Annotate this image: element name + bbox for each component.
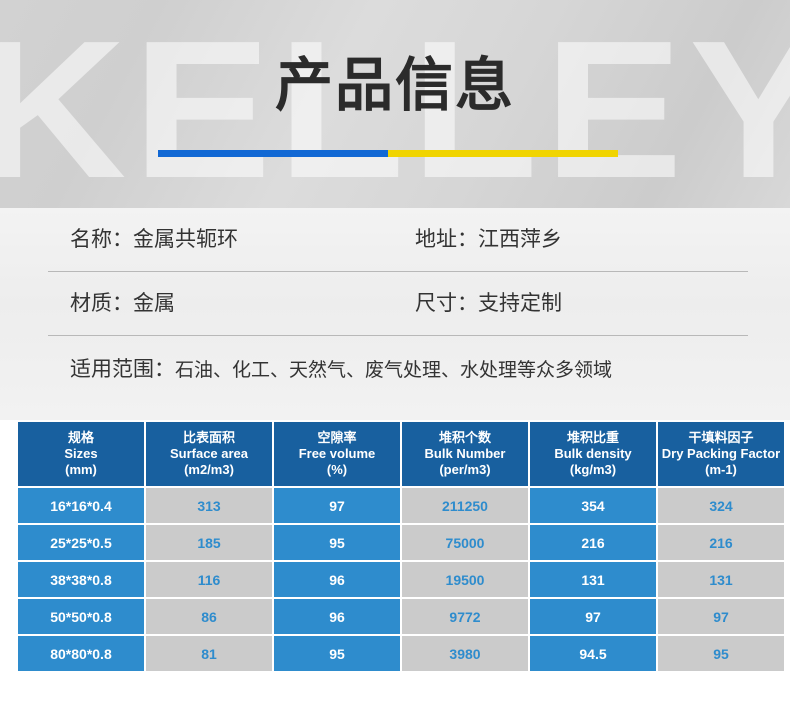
table-cell: 116 — [146, 562, 272, 597]
page-banner: KELLEY 产品信息 — [0, 0, 790, 208]
info-scope-label: 适用范围： — [70, 353, 175, 383]
spec-table-wrapper: 规格 Sizes (mm) 比表面积 Surface area (m2/m3) … — [0, 420, 790, 695]
table-header-cell: 干填料因子 Dry Packing Factor (m-1) — [658, 422, 784, 486]
header-cn-label: 空隙率 — [276, 430, 398, 446]
header-unit-label: (mm) — [20, 462, 142, 478]
table-cell: 50*50*0.8 — [18, 599, 144, 634]
header-cn-label: 比表面积 — [148, 430, 270, 446]
table-cell: 131 — [530, 562, 656, 597]
table-cell: 96 — [274, 562, 400, 597]
table-cell: 185 — [146, 525, 272, 560]
table-cell: 95 — [274, 525, 400, 560]
header-unit-label: (%) — [276, 462, 398, 478]
table-cell: 313 — [146, 488, 272, 523]
table-row: 38*38*0.8 116 96 19500 131 131 — [18, 562, 784, 597]
table-row: 25*25*0.5 185 95 75000 216 216 — [18, 525, 784, 560]
header-unit-label: (m2/m3) — [148, 462, 270, 478]
header-en-label: Sizes — [20, 446, 142, 462]
page-title: 产品信息 — [0, 50, 790, 122]
table-row: 16*16*0.4 313 97 211250 354 324 — [18, 488, 784, 523]
table-cell: 16*16*0.4 — [18, 488, 144, 523]
info-row-scope: 适用范围： 石油、化工、天然气、废气处理、水处理等众多领域 — [0, 336, 790, 400]
table-cell: 25*25*0.5 — [18, 525, 144, 560]
table-header-cell: 空隙率 Free volume (%) — [274, 422, 400, 486]
table-row: 80*80*0.8 81 95 3980 94.5 95 — [18, 636, 784, 671]
spec-table: 规格 Sizes (mm) 比表面积 Surface area (m2/m3) … — [16, 420, 786, 673]
info-material: 材质：金属 — [70, 290, 415, 318]
header-en-label: Bulk density — [532, 446, 654, 462]
table-cell: 94.5 — [530, 636, 656, 671]
table-header-cell: 堆积比重 Bulk density (kg/m3) — [530, 422, 656, 486]
header-unit-label: (kg/m3) — [532, 462, 654, 478]
title-accent-bar — [158, 150, 618, 157]
header-en-label: Surface area — [148, 446, 270, 462]
info-address: 地址：江西萍乡 — [415, 226, 562, 254]
table-header-cell: 规格 Sizes (mm) — [18, 422, 144, 486]
table-cell: 216 — [530, 525, 656, 560]
table-cell: 80*80*0.8 — [18, 636, 144, 671]
table-cell: 95 — [658, 636, 784, 671]
table-cell: 95 — [274, 636, 400, 671]
header-unit-label: (m-1) — [660, 462, 782, 478]
table-cell: 9772 — [402, 599, 528, 634]
accent-bar-blue-segment — [158, 150, 388, 157]
table-cell: 97 — [530, 599, 656, 634]
table-cell: 38*38*0.8 — [18, 562, 144, 597]
table-header-cell: 堆积个数 Bulk Number (per/m3) — [402, 422, 528, 486]
header-cn-label: 堆积比重 — [532, 430, 654, 446]
info-row-material-size: 材质：金属 尺寸：支持定制 — [0, 272, 790, 336]
header-en-label: Free volume — [276, 446, 398, 462]
product-info-panel: 名称：金属共轭环 地址：江西萍乡 材质：金属 尺寸：支持定制 适用范围： 石油、… — [0, 208, 790, 420]
info-row-name-address: 名称：金属共轭环 地址：江西萍乡 — [0, 208, 790, 272]
info-size: 尺寸：支持定制 — [415, 290, 562, 318]
header-en-label: Bulk Number — [404, 446, 526, 462]
info-scope-value: 石油、化工、天然气、废气处理、水处理等众多领域 — [175, 355, 612, 382]
table-cell: 96 — [274, 599, 400, 634]
table-cell: 354 — [530, 488, 656, 523]
table-cell: 86 — [146, 599, 272, 634]
header-en-label: Dry Packing Factor — [660, 446, 782, 462]
header-cn-label: 堆积个数 — [404, 430, 526, 446]
table-cell: 75000 — [402, 525, 528, 560]
header-cn-label: 干填料因子 — [660, 430, 782, 446]
table-cell: 81 — [146, 636, 272, 671]
table-cell: 131 — [658, 562, 784, 597]
table-cell: 19500 — [402, 562, 528, 597]
accent-bar-yellow-segment — [388, 150, 618, 157]
table-cell: 97 — [658, 599, 784, 634]
table-row: 50*50*0.8 86 96 9772 97 97 — [18, 599, 784, 634]
table-cell: 324 — [658, 488, 784, 523]
info-product-name: 名称：金属共轭环 — [70, 226, 415, 254]
table-header-row: 规格 Sizes (mm) 比表面积 Surface area (m2/m3) … — [18, 422, 784, 486]
header-cn-label: 规格 — [20, 430, 142, 446]
table-cell: 216 — [658, 525, 784, 560]
table-cell: 211250 — [402, 488, 528, 523]
header-unit-label: (per/m3) — [404, 462, 526, 478]
table-cell: 97 — [274, 488, 400, 523]
table-cell: 3980 — [402, 636, 528, 671]
table-header-cell: 比表面积 Surface area (m2/m3) — [146, 422, 272, 486]
